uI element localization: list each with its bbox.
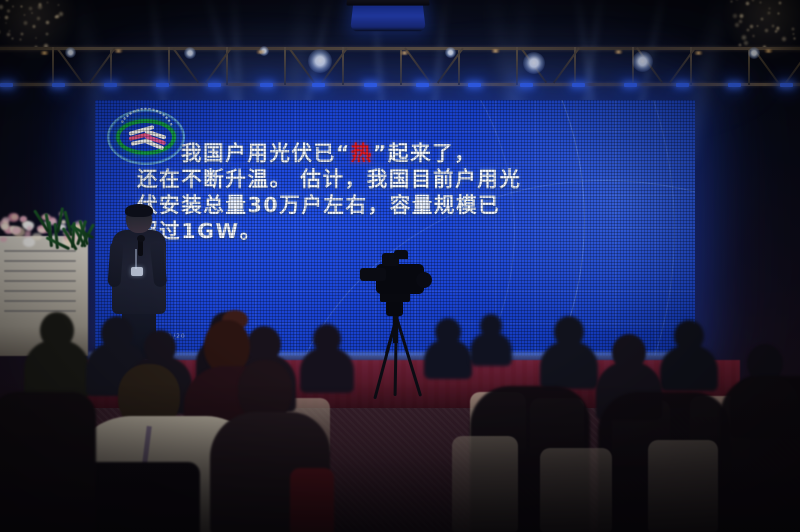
- truss-vertical: [516, 47, 518, 85]
- audience-head: [480, 314, 502, 338]
- chandelier-crystal: [8, 30, 11, 33]
- truss-spotlight: [523, 52, 545, 74]
- conference-chair: [648, 440, 718, 532]
- chandelier-crystal: [32, 24, 36, 28]
- chandelier-crystal: [36, 16, 41, 21]
- truss-led-strip: [208, 83, 221, 87]
- camera-side-control: [416, 272, 432, 288]
- chandelier-crystal: [730, 0, 733, 3]
- podium-placard-lines: [4, 250, 76, 320]
- tripod-head: [386, 300, 403, 316]
- chandelier-crystal: [777, 12, 780, 15]
- flower-petal: [27, 226, 33, 231]
- audience-head: [313, 324, 341, 354]
- truss-amber-lamp: [694, 51, 703, 55]
- camera-top-handle: [394, 250, 408, 259]
- chandelier-crystal: [793, 37, 796, 40]
- chandelier-crystal: [739, 13, 745, 19]
- chandelier-crystal: [0, 4, 4, 10]
- chandelier-crystal: [23, 20, 29, 26]
- audience-head: [101, 316, 133, 351]
- truss-amber-lamp: [491, 49, 500, 53]
- chandelier-crystal: [20, 5, 23, 8]
- chandelier-crystal: [774, 30, 777, 33]
- flower-petal: [11, 214, 19, 220]
- truss-led-strip: [260, 83, 273, 87]
- truss-amber-lamp: [764, 49, 773, 53]
- chandelier-crystal: [759, 1, 762, 4]
- truss-vertical: [284, 47, 286, 85]
- chandelier-crystal: [38, 2, 43, 7]
- presenter-badge: [131, 267, 143, 276]
- chandelier-crystal: [767, 11, 771, 15]
- audience-head: [144, 330, 176, 365]
- chandelier-crystal: [54, 15, 58, 19]
- truss-led-strip: [364, 83, 377, 87]
- chandelier-crystal: [745, 1, 750, 6]
- truss-diagonal: [785, 48, 800, 84]
- flower-arrangement: [0, 198, 99, 246]
- truss-spotlight: [308, 49, 332, 73]
- conference-hall-photo: ▪▪▪▪▪▪▪▪▪▪▪▪▪▪▪▪ 我国户用光伏已“热”起来了，还在不断升温。 估…: [0, 0, 800, 532]
- chandelier-crystal: [764, 28, 769, 33]
- truss-amber-lamp: [614, 50, 623, 54]
- chandelier-crystal: [781, 36, 787, 42]
- chandelier-crystal: [732, 13, 738, 19]
- chandelier-crystal: [55, 14, 60, 19]
- tripod-center-column: [393, 313, 398, 343]
- chandelier-crystal: [5, 22, 7, 24]
- chandelier-crystal: [746, 28, 750, 32]
- truss-amber-lamp: [40, 51, 49, 55]
- truss-led-strip: [676, 83, 689, 87]
- chandelier-crystal: [28, 6, 33, 11]
- chandelier-crystal: [11, 37, 14, 40]
- chandelier-crystal: [749, 24, 754, 29]
- chandelier-crystal: [46, 1, 49, 4]
- truss-led-strip: [572, 83, 585, 87]
- chandelier-crystal: [6, 32, 11, 37]
- chandelier-crystal: [31, 12, 33, 14]
- audience-member-right-foreground: [720, 376, 800, 532]
- conference-chair: [540, 448, 612, 532]
- audience-head: [247, 326, 281, 363]
- audience-head: [435, 318, 461, 346]
- chandelier-crystal: [738, 19, 743, 24]
- conference-chair: [452, 436, 518, 532]
- microphone: [138, 239, 143, 256]
- chandelier-crystal: [6, 9, 11, 14]
- chandelier-crystal: [760, 17, 765, 22]
- chandelier-crystal: [756, 25, 759, 28]
- truss-spotlight: [65, 47, 76, 58]
- truss-spotlight: [184, 47, 196, 59]
- chandelier-crystal: [4, 15, 9, 20]
- chandelier-crystal: [741, 34, 747, 40]
- lighting-truss: [0, 45, 800, 91]
- chandelier-crystal: [45, 20, 51, 26]
- flower-petal: [32, 233, 42, 241]
- chandelier-crystal: [35, 37, 37, 39]
- truss-amber-lamp: [256, 50, 265, 54]
- chandelier-crystal: [37, 4, 43, 10]
- truss-led-strip: [624, 83, 637, 87]
- chandelier-crystal: [23, 14, 25, 16]
- chandelier-crystal: [0, 29, 1, 35]
- chandelier-crystal: [751, 0, 755, 2]
- truss-led-strip: [52, 83, 65, 87]
- chandelier-crystal: [57, 4, 60, 7]
- audience-head: [40, 312, 74, 349]
- flower-petal: [1, 223, 9, 229]
- truss-led-strip: [104, 83, 117, 87]
- chandelier-crystal: [12, 5, 14, 7]
- audience-member-far-left: [0, 392, 96, 532]
- truss-spotlight: [445, 47, 456, 58]
- truss-led-strip: [312, 83, 325, 87]
- presenter-lanyard: [135, 249, 137, 269]
- chandelier-crystal: [768, 7, 771, 10]
- chandelier-crystal: [792, 33, 794, 35]
- chandelier-crystal: [19, 38, 22, 41]
- flower-petal: [12, 227, 21, 234]
- chandelier-crystal: [776, 26, 780, 30]
- truss-led-strip: [468, 83, 481, 87]
- truss-spotlight: [632, 51, 653, 72]
- chandelier-crystal: [5, 0, 9, 2]
- chandelier-crystal: [20, 32, 24, 36]
- audience-head: [612, 334, 646, 371]
- audience-red-skirt: [290, 468, 334, 532]
- truss-led-strip: [156, 83, 169, 87]
- flower-petal: [0, 237, 7, 243]
- chandelier-crystal: [771, 24, 775, 28]
- chandelier-crystal: [58, 11, 64, 17]
- truss-vertical: [52, 47, 54, 85]
- truss-vertical: [168, 47, 170, 85]
- truss-spotlight: [748, 47, 760, 59]
- truss-led-strip: [520, 83, 533, 87]
- chandelier-crystal: [778, 1, 782, 5]
- chandelier-crystal: [45, 32, 49, 36]
- chandelier-crystal: [752, 34, 755, 37]
- truss-amber-lamp: [114, 49, 123, 53]
- chandelier-crystal: [734, 22, 740, 28]
- chandelier-crystal: [775, 27, 780, 32]
- truss-amber-lamp: [400, 51, 409, 55]
- camera-lens-hood: [360, 268, 386, 281]
- truss-led-strip: [780, 83, 793, 87]
- hanging-light-fixture: [350, 0, 426, 31]
- chandelier-crystal: [735, 0, 739, 1]
- tripod-leg-left: [394, 314, 422, 397]
- chandelier-crystal: [791, 27, 795, 31]
- truss-led-strip: [0, 83, 13, 87]
- truss-led-strip: [728, 83, 741, 87]
- truss-led-strip: [416, 83, 429, 87]
- presenter-hair: [125, 204, 153, 217]
